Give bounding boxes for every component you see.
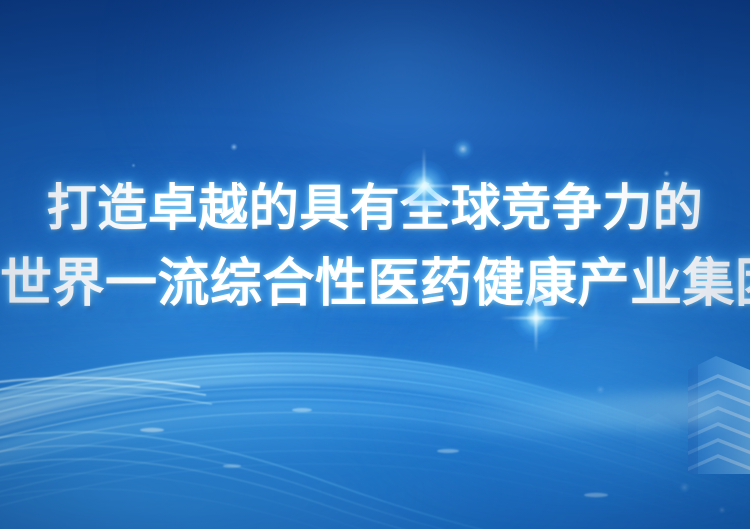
bokeh-speck <box>679 482 690 493</box>
top-shade-overlay <box>0 0 750 120</box>
skyscraper-silhouette <box>670 354 750 474</box>
lens-flare-sparkle-small <box>452 138 474 160</box>
corporate-slogan-banner: 打造卓越的具有全球竞争力的 世界一流综合性医药健康产业集团 <box>0 0 750 529</box>
wave-crest-glow <box>0 293 750 462</box>
light-beam <box>439 390 740 435</box>
bokeh-speck <box>131 163 136 168</box>
bokeh-speck <box>596 385 605 394</box>
bokeh-speck <box>718 506 726 514</box>
headline-line-1: 打造卓越的具有全球竞争力的 <box>0 183 750 233</box>
wave-haze-left <box>0 319 750 529</box>
skyscraper-silhouette-secondary <box>628 409 688 479</box>
bokeh-speck <box>230 143 238 151</box>
bokeh-speck <box>663 170 670 177</box>
headline-line-2: 世界一流综合性医药健康产业集团 <box>0 258 750 310</box>
wave-haze-right <box>380 309 750 499</box>
